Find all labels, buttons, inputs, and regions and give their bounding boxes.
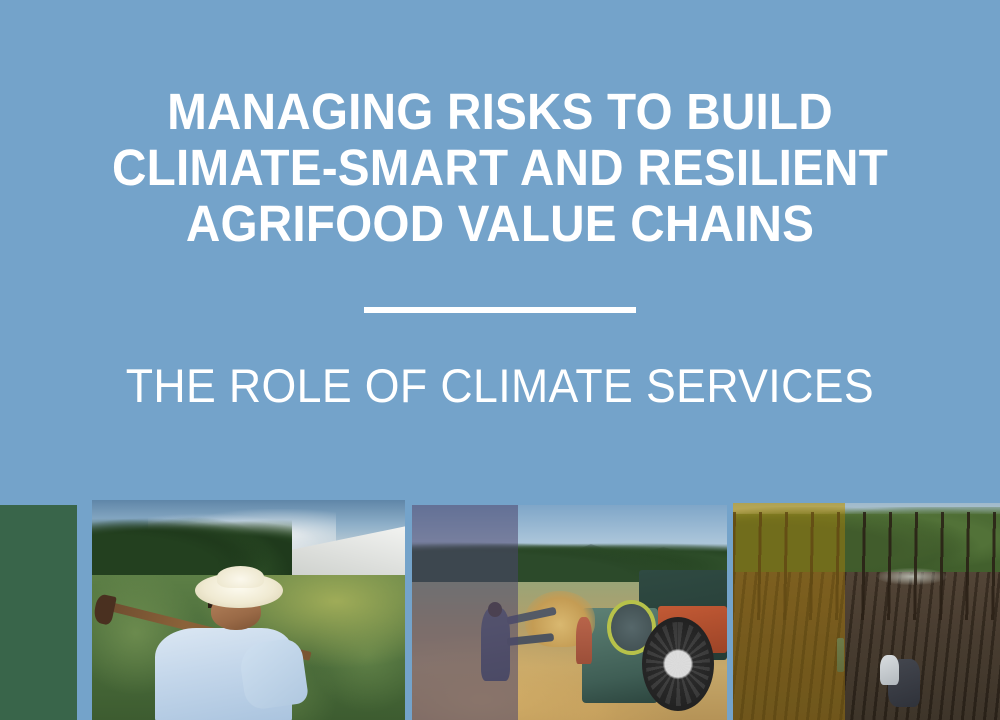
- divider: [0, 300, 1000, 318]
- worker-body: [481, 608, 509, 681]
- divider-rule: [364, 307, 636, 313]
- title-line-3: AGRIFOOD VALUE CHAINS: [33, 196, 968, 252]
- photo-farmer-content: [92, 500, 405, 720]
- photo-plantation-content: [733, 503, 1000, 720]
- photo-threshing-with-tractor: [412, 505, 727, 720]
- second-worker: [576, 617, 592, 664]
- cover-page: MANAGING RISKS TO BUILD CLIMATE-SMART AN…: [0, 0, 1000, 720]
- title-line-2: CLIMATE-SMART AND RESILIENT: [33, 140, 968, 196]
- straw-hat-crown: [217, 566, 264, 588]
- tree-trunks: [733, 512, 1000, 621]
- title-line-1: MANAGING RISKS TO BUILD: [33, 84, 968, 140]
- photo-threshing-content: [412, 505, 727, 720]
- worker-shirt: [880, 655, 899, 685]
- photo-tree-plantation-field: [733, 503, 1000, 720]
- page-subtitle: THE ROLE OF CLIMATE SERVICES: [0, 360, 1000, 412]
- green-accent-block: [0, 505, 77, 720]
- page-title: MANAGING RISKS TO BUILD CLIMATE-SMART AN…: [0, 84, 1000, 252]
- subtitle-text: THE ROLE OF CLIMATE SERVICES: [126, 360, 874, 412]
- farmer-arm: [238, 637, 309, 711]
- blue-post: [837, 638, 843, 673]
- photo-farmer-with-hoe: [92, 500, 405, 720]
- worker-head: [488, 602, 502, 617]
